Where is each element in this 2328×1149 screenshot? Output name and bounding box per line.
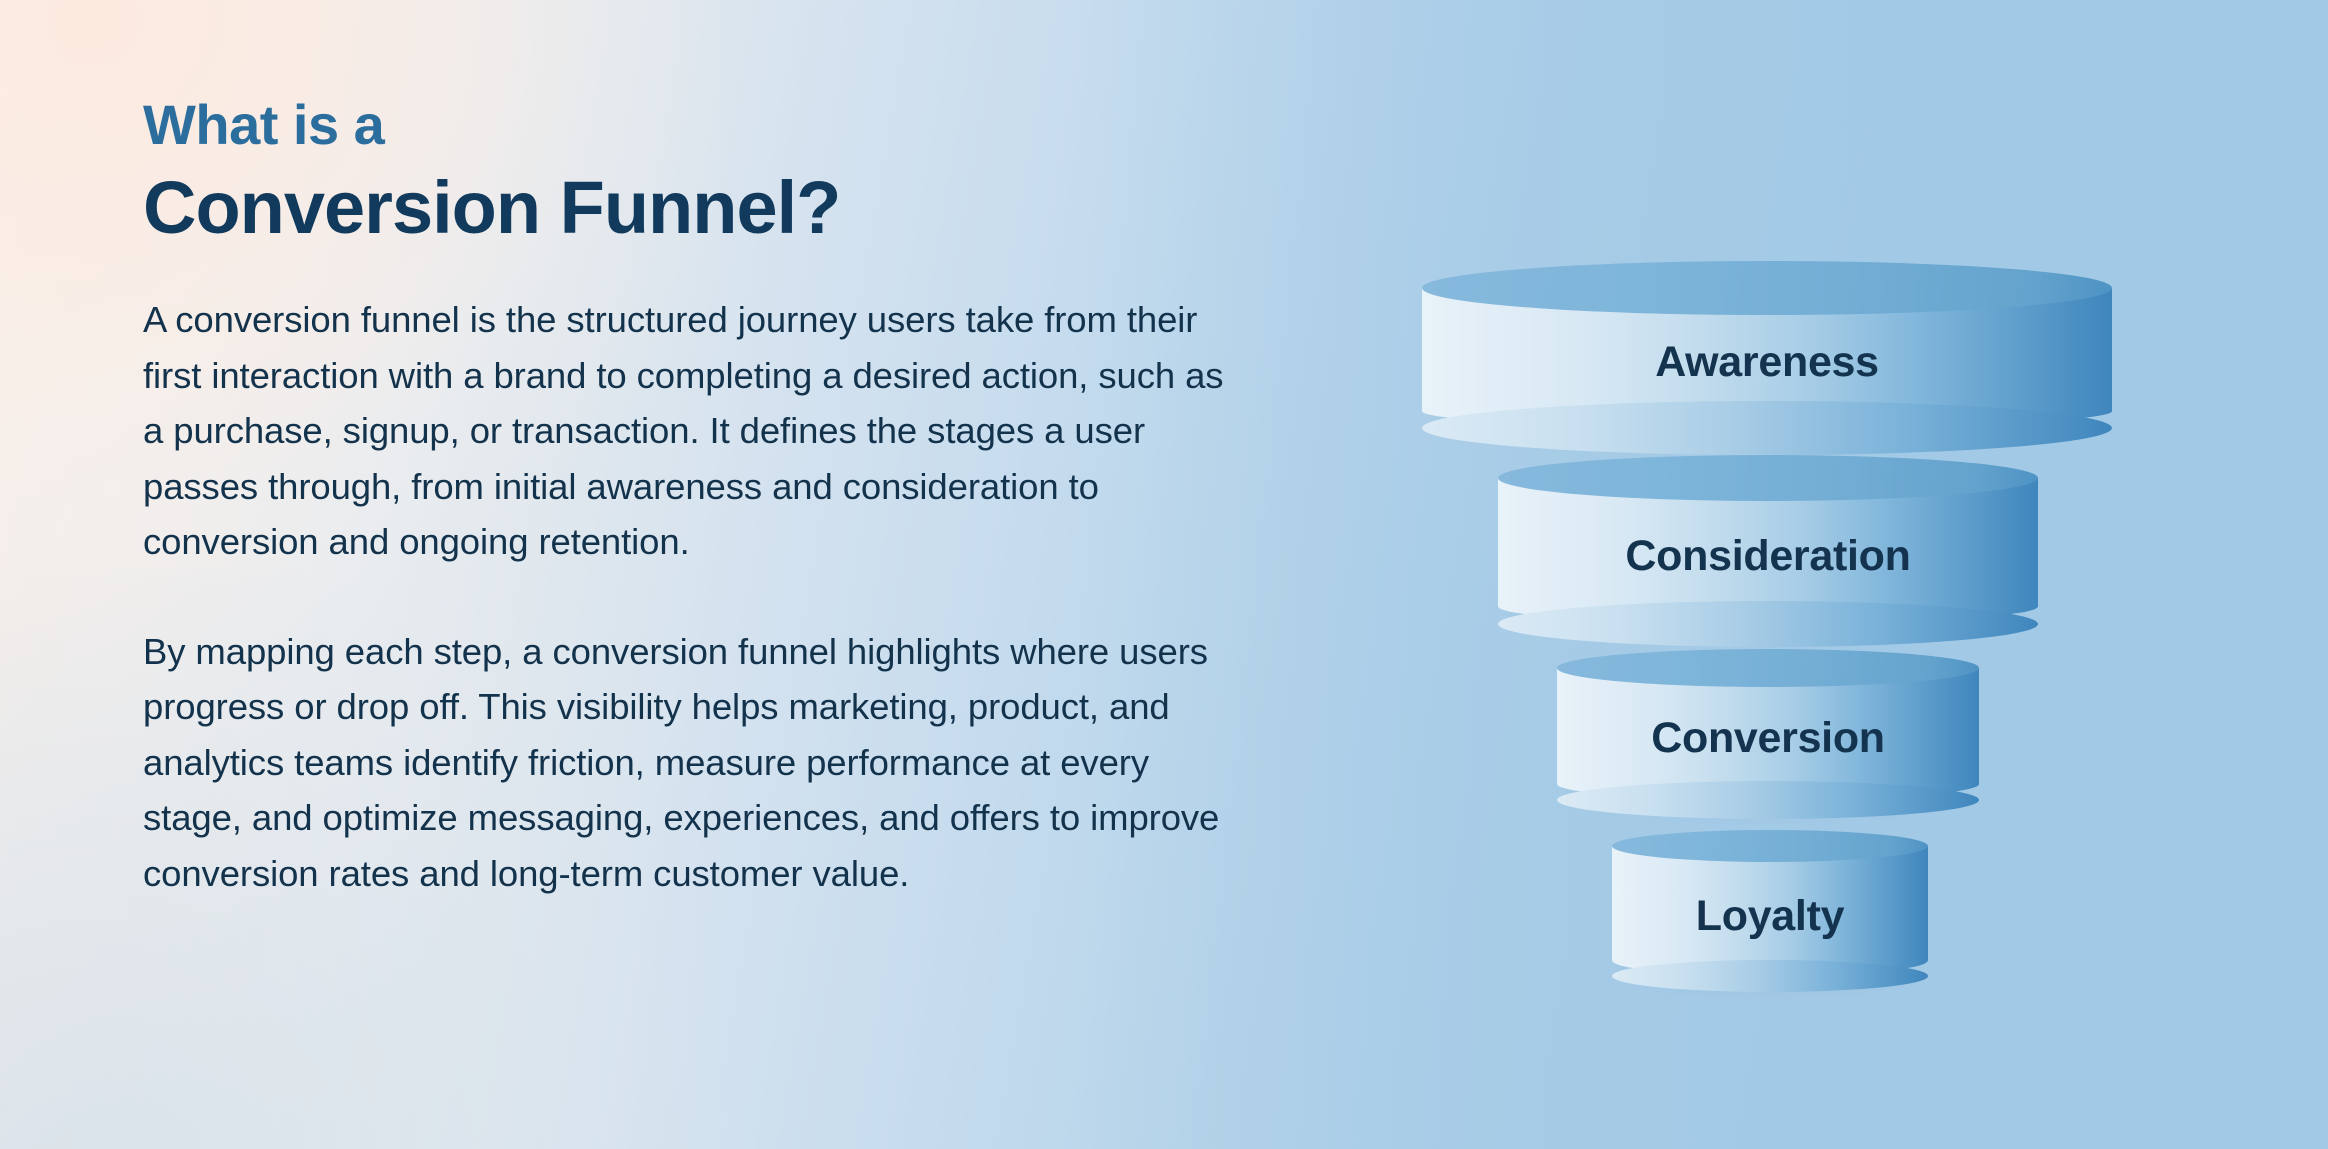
funnel-stage-label: Awareness [1422,338,2112,387]
stage-bottom-ellipse [1612,960,1928,992]
headline-eyebrow: What is a [143,96,1263,155]
funnel-stage-awareness: Awareness [1422,288,2112,428]
stage-top-ellipse [1557,649,1979,687]
stage-bottom-ellipse [1498,601,2038,647]
stage-top-ellipse [1498,455,2038,501]
poster-canvas: What is a Conversion Funnel? A conversio… [0,0,2328,1149]
funnel-stage-label: Consideration [1498,532,2038,581]
stage-top-ellipse [1422,261,2112,315]
funnel-stage-loyalty: Loyalty [1612,846,1928,976]
page-title: Conversion Funnel? [143,169,1263,247]
funnel-stage-consideration: Consideration [1498,478,2038,624]
stage-bottom-ellipse [1557,781,1979,819]
body-paragraph-1: A conversion funnel is the structured jo… [143,292,1238,569]
conversion-funnel-diagram: Awareness Consideration Conversion Loyal… [1390,250,2150,1010]
stage-top-ellipse [1612,830,1928,862]
funnel-stage-conversion: Conversion [1557,668,1979,800]
funnel-stage-label: Loyalty [1612,892,1928,941]
funnel-stage-label: Conversion [1557,714,1979,763]
text-column: What is a Conversion Funnel? A conversio… [143,96,1263,901]
body-paragraph-2: By mapping each step, a conversion funne… [143,624,1238,901]
stage-bottom-ellipse [1422,401,2112,455]
